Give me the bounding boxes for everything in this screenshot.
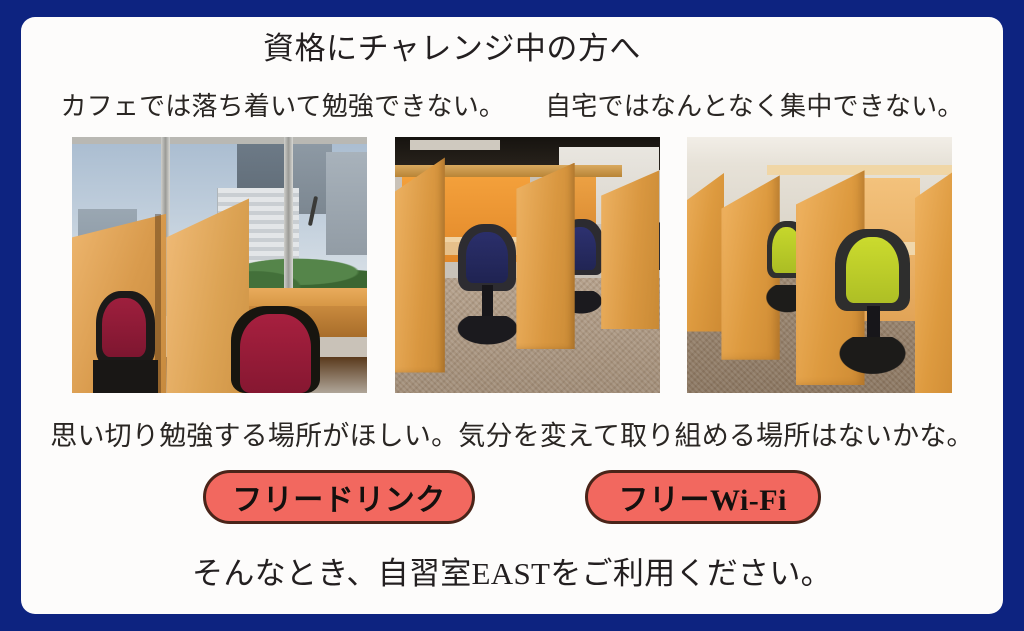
problem-statements: カフェでは落ち着いて勉強できない。 自宅ではなんとなく集中できない。 xyxy=(21,90,1003,124)
page-title: 資格にチャレンジ中の方へ xyxy=(21,30,1003,69)
photo-carrel-row-lime-chairs xyxy=(687,137,952,393)
chair-two-cushion xyxy=(240,314,311,393)
partition-two xyxy=(516,163,574,350)
partition-one xyxy=(395,157,445,372)
photo-gallery xyxy=(72,137,952,393)
badge-free-wifi-label: フリーWi-Fi xyxy=(619,475,787,519)
badge-free-drink: フリードリンク xyxy=(203,470,475,524)
feature-badges: フリードリンク フリーWi-Fi xyxy=(21,470,1003,524)
partition-three xyxy=(915,165,952,393)
badge-free-drink-label: フリードリンク xyxy=(232,475,446,519)
chair-one-base xyxy=(453,316,522,347)
problem-text-cafe: カフェでは落ち着いて勉強できない。 xyxy=(60,90,505,124)
chair-three-base xyxy=(833,337,913,378)
chair-one-cushion xyxy=(466,232,508,283)
chair-one-cushion xyxy=(102,298,146,357)
poster-card: 資格にチャレンジ中の方へ カフェでは落ち着いて勉強できない。 自宅ではなんとなく… xyxy=(21,17,1003,614)
chair-three-cushion xyxy=(846,237,899,304)
partition-far xyxy=(687,173,724,332)
window-frame-top xyxy=(72,137,367,144)
poster-root: 資格にチャレンジ中の方へ カフェでは落ち着いて勉強できない。 自宅ではなんとなく… xyxy=(0,0,1024,631)
badge-free-wifi: フリーWi-Fi xyxy=(585,470,821,524)
need-statement: 思い切り勉強する場所がほしい。気分を変えて取り組める場所はないかな。 xyxy=(21,419,1003,454)
ceiling-light-strip xyxy=(410,140,500,150)
photo-window-side-study-booths xyxy=(72,137,367,393)
chair-one-base xyxy=(93,360,158,393)
photo-carrel-row-navy-chairs xyxy=(395,137,660,393)
partition-three xyxy=(601,170,659,329)
closing-statement: そんなとき、自習室EASTをご利用ください。 xyxy=(21,554,1003,594)
problem-text-home: 自宅ではなんとなく集中できない。 xyxy=(545,90,963,124)
